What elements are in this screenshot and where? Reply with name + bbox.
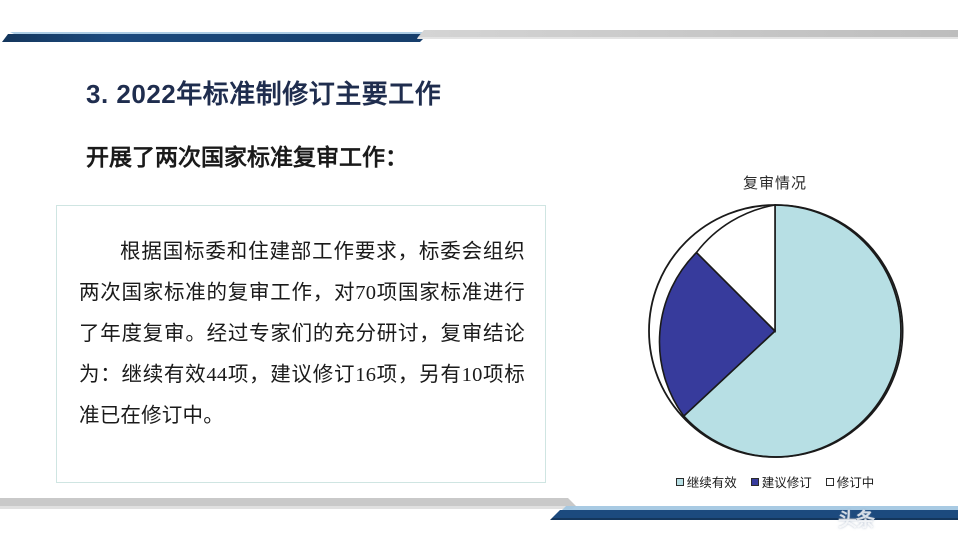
legend-item-suggest-revision[interactable]: 建议修订 — [751, 472, 812, 491]
pie-chart-svg — [645, 201, 905, 461]
review-pie-chart-panel: 复审情况 继续有效 建议修订 修订中 — [600, 172, 950, 502]
pie-chart — [645, 201, 905, 461]
watermark-logo: 头条 — [838, 505, 874, 532]
legend-label: 继续有效 — [687, 472, 737, 491]
chart-legend: 继续有效 建议修订 修订中 — [600, 472, 950, 491]
legend-item-under-revision[interactable]: 修订中 — [826, 472, 875, 491]
legend-swatch-icon — [751, 478, 759, 486]
legend-label: 建议修订 — [762, 472, 812, 491]
top-banner-graphic — [0, 0, 960, 56]
section-subheading: 开展了两次国家标准复审工作： — [86, 138, 408, 172]
page-title: 3. 2022年标准制修订主要工作 — [86, 74, 441, 111]
legend-label: 修订中 — [837, 472, 875, 491]
legend-item-continuing-valid[interactable]: 继续有效 — [676, 472, 737, 491]
body-text-box: 根据国标委和住建部工作要求，标委会组织两次国家标准的复审工作，对70项国家标准进… — [56, 205, 546, 483]
chart-title: 复审情况 — [600, 172, 950, 193]
top-decorative-banner — [0, 0, 960, 56]
legend-swatch-icon — [676, 478, 684, 486]
body-paragraph: 根据国标委和住建部工作要求，标委会组织两次国家标准的复审工作，对70项国家标准进… — [79, 232, 525, 437]
legend-swatch-icon — [826, 478, 834, 486]
